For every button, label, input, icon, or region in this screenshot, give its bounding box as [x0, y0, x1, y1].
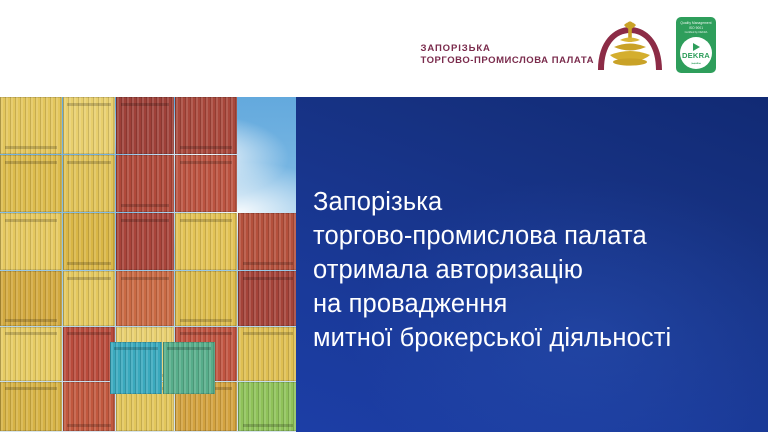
- shipping-container: [116, 97, 174, 154]
- shipping-container: [63, 155, 115, 212]
- chamber-logo-line1: ЗАПОРІЗЬКА: [420, 43, 490, 55]
- shipping-container: [116, 155, 174, 212]
- shipping-container: [238, 327, 296, 381]
- shipping-container: [0, 382, 62, 431]
- shipping-container: [175, 213, 237, 270]
- headline-line-5: митної брокерської діяльності: [313, 321, 671, 355]
- shipping-container: [175, 155, 237, 212]
- announcement-banner: ЗАПОРІЗЬКА ТОРГОВО-ПРОМИСЛОВА ПАЛАТА: [0, 0, 768, 432]
- shipping-container: [116, 271, 174, 326]
- caduceus-emblem-icon: [594, 21, 666, 71]
- container-stack: [0, 97, 296, 432]
- shipping-container: [238, 213, 296, 270]
- shipping-container: [238, 382, 296, 431]
- zaporizhzhia-chamber-of-commerce-logo: ЗАПОРІЗЬКА ТОРГОВО-ПРОМИСЛОВА ПАЛАТА: [420, 21, 666, 70]
- chamber-logo-line2: ТОРГОВО-ПРОМИСЛОВА ПАЛАТА: [420, 55, 594, 67]
- shipping-container: [175, 97, 237, 154]
- shipping-container-accent: [163, 342, 215, 394]
- dekra-arabic-mark: معتمد: [691, 60, 701, 66]
- headline-line-2: торгово-промислова палата: [313, 219, 671, 253]
- headline-line-1: Запорізька: [313, 185, 671, 219]
- shipping-container: [238, 271, 296, 326]
- shipping-container: [0, 213, 62, 270]
- shipping-containers-photo: [0, 97, 296, 432]
- shipping-container-accent: [110, 342, 162, 394]
- dekra-triangle-icon: [693, 43, 700, 51]
- shipping-container: [0, 155, 62, 212]
- headline-line-4: на провадження: [313, 287, 671, 321]
- dekra-seal: DEKRA معتمد: [680, 37, 712, 69]
- dekra-wordmark: DEKRA: [682, 52, 710, 60]
- headline-line-3: отримала авторизацію: [313, 253, 671, 287]
- headline-panel: Запорізькаторгово-промислова палатаотрим…: [296, 97, 768, 432]
- shipping-container: [63, 271, 115, 326]
- header-band: ЗАПОРІЗЬКА ТОРГОВО-ПРОМИСЛОВА ПАЛАТА: [0, 0, 768, 97]
- page-title: Запорізькаторгово-промислова палатаотрим…: [313, 185, 671, 355]
- shipping-container: [63, 213, 115, 270]
- shipping-container: [0, 327, 62, 381]
- dekra-standard-text: ISO 9001: [676, 26, 716, 30]
- shipping-container: [175, 271, 237, 326]
- shipping-container: [116, 213, 174, 270]
- shipping-container: [0, 97, 62, 154]
- shipping-container: [0, 271, 62, 326]
- logo-cluster: ЗАПОРІЗЬКА ТОРГОВО-ПРОМИСЛОВА ПАЛАТА: [420, 17, 716, 73]
- shipping-container: [63, 382, 115, 431]
- shipping-container: [63, 97, 115, 154]
- chamber-logo-text: ЗАПОРІЗЬКА ТОРГОВО-ПРОМИСЛОВА ПАЛАТА: [420, 43, 594, 70]
- dekra-certification-badge: Quality Management ISO 9001 Certified by…: [676, 17, 716, 73]
- dekra-sub-text: Certified by DEKRA: [676, 31, 716, 34]
- shipping-container: [63, 327, 115, 381]
